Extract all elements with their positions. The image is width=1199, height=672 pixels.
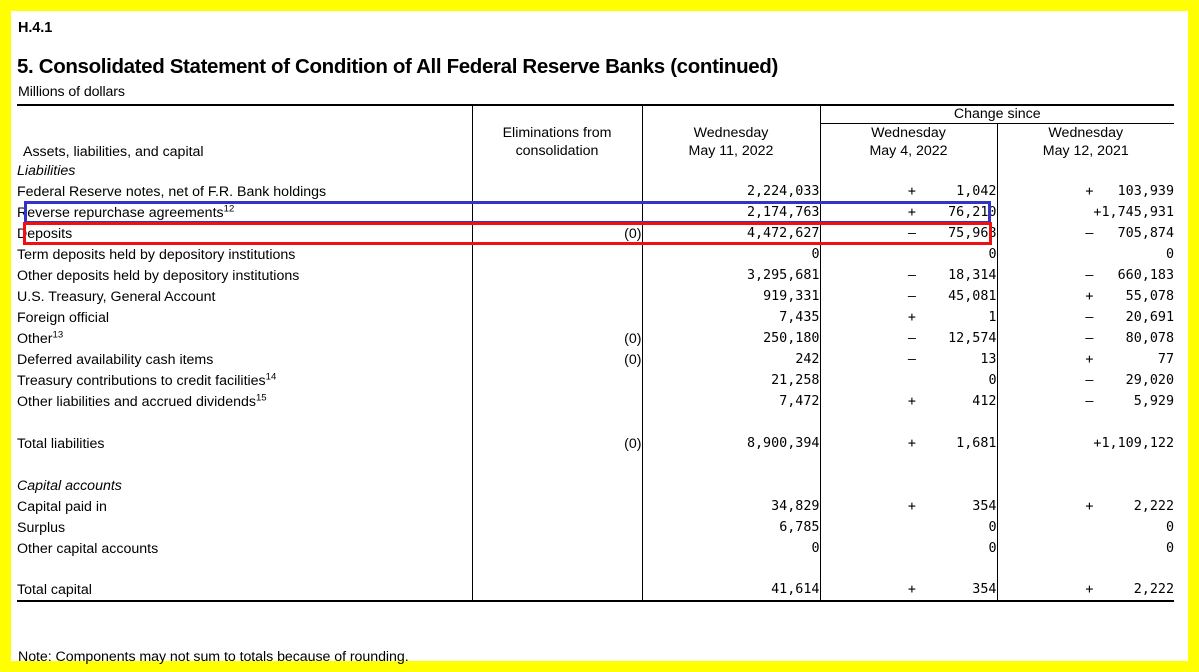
footnote-marker: 14	[266, 371, 277, 382]
cell-change-week: + 1,042	[820, 181, 997, 202]
cell-change-year	[997, 454, 1174, 475]
cell-eliminations	[472, 475, 642, 496]
header-current-week: Wednesday May 11, 2022	[642, 105, 820, 160]
row-label: U.S. Treasury, General Account	[17, 286, 472, 307]
cell-change-year: 0	[997, 517, 1174, 538]
cell-change-year: 0	[997, 244, 1174, 265]
cell-change-week: + 1,681	[820, 433, 997, 454]
cell-change-week: + 1	[820, 307, 997, 328]
table-row: Other capital accounts000	[17, 538, 1174, 559]
table-row	[17, 412, 1174, 433]
cell-current-week: 34,829	[642, 496, 820, 517]
cell-current-week	[642, 412, 820, 433]
cell-change-week: 0	[820, 538, 997, 559]
table-row: U.S. Treasury, General Account919,331– 4…	[17, 286, 1174, 307]
cell-change-year: + 77	[997, 349, 1174, 370]
units-subtitle: Millions of dollars	[18, 84, 125, 100]
row-label	[17, 454, 472, 475]
header-change-year-l1: Wednesday	[1048, 125, 1123, 141]
cell-current-week: 41,614	[642, 580, 820, 601]
table-row: Federal Reserve notes, net of F.R. Bank …	[17, 181, 1174, 202]
row-label: Total liabilities	[17, 433, 472, 454]
cell-change-year: 0	[997, 538, 1174, 559]
cell-change-week	[820, 412, 997, 433]
cell-eliminations	[472, 559, 642, 580]
cell-eliminations	[472, 496, 642, 517]
row-label: Foreign official	[17, 307, 472, 328]
row-label: Term deposits held by depository institu…	[17, 244, 472, 265]
cell-change-year	[997, 412, 1174, 433]
cell-change-week: 0	[820, 370, 997, 391]
header-change-week-l2: May 4, 2022	[821, 142, 997, 160]
cell-eliminations	[472, 517, 642, 538]
cell-change-week: + 354	[820, 580, 997, 601]
cell-current-week: 6,785	[642, 517, 820, 538]
cell-change-week: 0	[820, 244, 997, 265]
cell-eliminations	[472, 391, 642, 412]
header-change-week: Wednesday May 4, 2022	[820, 124, 997, 161]
table-row: Capital paid in34,829+ 354+ 2,222	[17, 496, 1174, 517]
cell-eliminations	[472, 160, 642, 181]
table-row: Foreign official7,435+ 1– 20,691	[17, 307, 1174, 328]
row-label: Federal Reserve notes, net of F.R. Bank …	[17, 181, 472, 202]
header-assets-label-text: Assets, liabilities, and capital	[17, 144, 472, 160]
cell-change-year	[997, 160, 1174, 181]
header-current-week-l1: Wednesday	[694, 125, 769, 141]
cell-change-week: + 412	[820, 391, 997, 412]
footnote-rounding: Note: Components may not sum to totals b…	[18, 649, 409, 665]
cell-eliminations	[472, 538, 642, 559]
table-row	[17, 454, 1174, 475]
row-label: Deposits	[17, 223, 472, 244]
cell-current-week: 7,472	[642, 391, 820, 412]
cell-eliminations	[472, 286, 642, 307]
cell-eliminations: (0)	[472, 223, 642, 244]
cell-change-week: + 354	[820, 496, 997, 517]
cell-eliminations: (0)	[472, 328, 642, 349]
cell-change-year	[997, 475, 1174, 496]
cell-current-week	[642, 160, 820, 181]
row-label: Other liabilities and accrued dividends1…	[17, 391, 472, 412]
cell-eliminations	[472, 265, 642, 286]
table-head: Assets, liabilities, and capital Elimina…	[17, 105, 1174, 160]
cell-current-week	[642, 475, 820, 496]
cell-current-week: 3,295,681	[642, 265, 820, 286]
table-row: Other liabilities and accrued dividends1…	[17, 391, 1174, 412]
cell-current-week: 2,174,763	[642, 202, 820, 223]
cell-eliminations	[472, 244, 642, 265]
table-row: Term deposits held by depository institu…	[17, 244, 1174, 265]
cell-change-week: – 12,574	[820, 328, 997, 349]
cell-current-week: 0	[642, 538, 820, 559]
row-label: Treasury contributions to credit facilit…	[17, 370, 472, 391]
cell-change-week	[820, 160, 997, 181]
cell-change-week: – 18,314	[820, 265, 997, 286]
cell-current-week: 7,435	[642, 307, 820, 328]
cell-change-year: + 2,222	[997, 580, 1174, 601]
header-eliminations: Eliminations from consolidation	[472, 105, 642, 160]
cell-change-year: – 20,691	[997, 307, 1174, 328]
table-row: Liabilities	[17, 160, 1174, 181]
cell-change-year	[997, 559, 1174, 580]
cell-change-week	[820, 454, 997, 475]
row-label: Reverse repurchase agreements12	[17, 202, 472, 223]
cell-eliminations	[472, 454, 642, 475]
row-label: Other deposits held by depository instit…	[17, 265, 472, 286]
table-body: LiabilitiesFederal Reserve notes, net of…	[17, 160, 1174, 601]
cell-change-year: – 705,874	[997, 223, 1174, 244]
cell-current-week: 0	[642, 244, 820, 265]
statement-of-condition-table: Assets, liabilities, and capital Elimina…	[17, 104, 1174, 602]
header-change-since: Change since	[820, 105, 1174, 124]
cell-change-week	[820, 475, 997, 496]
table-row: Other13(0)250,180– 12,574– 80,078	[17, 328, 1174, 349]
footnote-marker: 15	[256, 392, 267, 403]
cell-eliminations	[472, 412, 642, 433]
cell-eliminations	[472, 370, 642, 391]
footnote-marker: 13	[52, 329, 63, 340]
cell-current-week	[642, 454, 820, 475]
cell-current-week: 919,331	[642, 286, 820, 307]
footnote-marker: 12	[224, 203, 235, 214]
cell-current-week	[642, 559, 820, 580]
cell-change-week: – 75,968	[820, 223, 997, 244]
row-label: Capital paid in	[17, 496, 472, 517]
row-label: Liabilities	[17, 160, 472, 181]
cell-change-week	[820, 559, 997, 580]
page-frame: H.4.1 5. Consolidated Statement of Condi…	[0, 0, 1199, 672]
row-label: Surplus	[17, 517, 472, 538]
cell-eliminations	[472, 307, 642, 328]
document-sheet: H.4.1 5. Consolidated Statement of Condi…	[11, 11, 1188, 661]
cell-change-year: – 80,078	[997, 328, 1174, 349]
table-row: Surplus6,78500	[17, 517, 1174, 538]
row-label: Other13	[17, 328, 472, 349]
cell-change-year: + 103,939	[997, 181, 1174, 202]
header-eliminations-l1: Eliminations from	[503, 125, 612, 141]
cell-change-year: – 5,929	[997, 391, 1174, 412]
header-assets-label: Assets, liabilities, and capital	[17, 105, 472, 160]
table-row: Deferred availability cash items(0)242– …	[17, 349, 1174, 370]
row-label: Total capital	[17, 580, 472, 601]
cell-current-week: 2,224,033	[642, 181, 820, 202]
document-id: H.4.1	[18, 20, 52, 36]
header-eliminations-l2: consolidation	[473, 142, 642, 160]
table-row: Other deposits held by depository instit…	[17, 265, 1174, 286]
cell-change-year: – 29,020	[997, 370, 1174, 391]
cell-current-week: 250,180	[642, 328, 820, 349]
cell-change-year: +1,745,931	[997, 202, 1174, 223]
row-label: Deferred availability cash items	[17, 349, 472, 370]
row-label: Other capital accounts	[17, 538, 472, 559]
cell-eliminations: (0)	[472, 433, 642, 454]
header-change-year-l2: May 12, 2021	[998, 142, 1175, 160]
cell-change-week: 0	[820, 517, 997, 538]
page-title: 5. Consolidated Statement of Condition o…	[17, 55, 778, 79]
cell-eliminations	[472, 181, 642, 202]
table-row: Total liabilities(0)8,900,394+ 1,681+1,1…	[17, 433, 1174, 454]
cell-change-year: – 660,183	[997, 265, 1174, 286]
cell-change-week: + 76,210	[820, 202, 997, 223]
row-label: Capital accounts	[17, 475, 472, 496]
cell-eliminations	[472, 580, 642, 601]
cell-current-week: 4,472,627	[642, 223, 820, 244]
cell-change-year: +1,109,122	[997, 433, 1174, 454]
table-row: Reverse repurchase agreements122,174,763…	[17, 202, 1174, 223]
table-row	[17, 559, 1174, 580]
row-label	[17, 559, 472, 580]
cell-change-week: – 45,081	[820, 286, 997, 307]
cell-current-week: 242	[642, 349, 820, 370]
header-change-week-l1: Wednesday	[871, 125, 946, 141]
cell-change-year: + 2,222	[997, 496, 1174, 517]
table-row: Capital accounts	[17, 475, 1174, 496]
table-row: Deposits(0)4,472,627– 75,968– 705,874	[17, 223, 1174, 244]
cell-change-week: – 13	[820, 349, 997, 370]
header-current-week-l2: May 11, 2022	[643, 142, 820, 160]
cell-current-week: 21,258	[642, 370, 820, 391]
table-row: Total capital41,614+ 354+ 2,222	[17, 580, 1174, 601]
row-label	[17, 412, 472, 433]
table-row: Treasury contributions to credit facilit…	[17, 370, 1174, 391]
cell-current-week: 8,900,394	[642, 433, 820, 454]
cell-eliminations: (0)	[472, 349, 642, 370]
cell-eliminations	[472, 202, 642, 223]
header-change-year: Wednesday May 12, 2021	[997, 124, 1174, 161]
header-row-group: Assets, liabilities, and capital Elimina…	[17, 105, 1174, 124]
cell-change-year: + 55,078	[997, 286, 1174, 307]
